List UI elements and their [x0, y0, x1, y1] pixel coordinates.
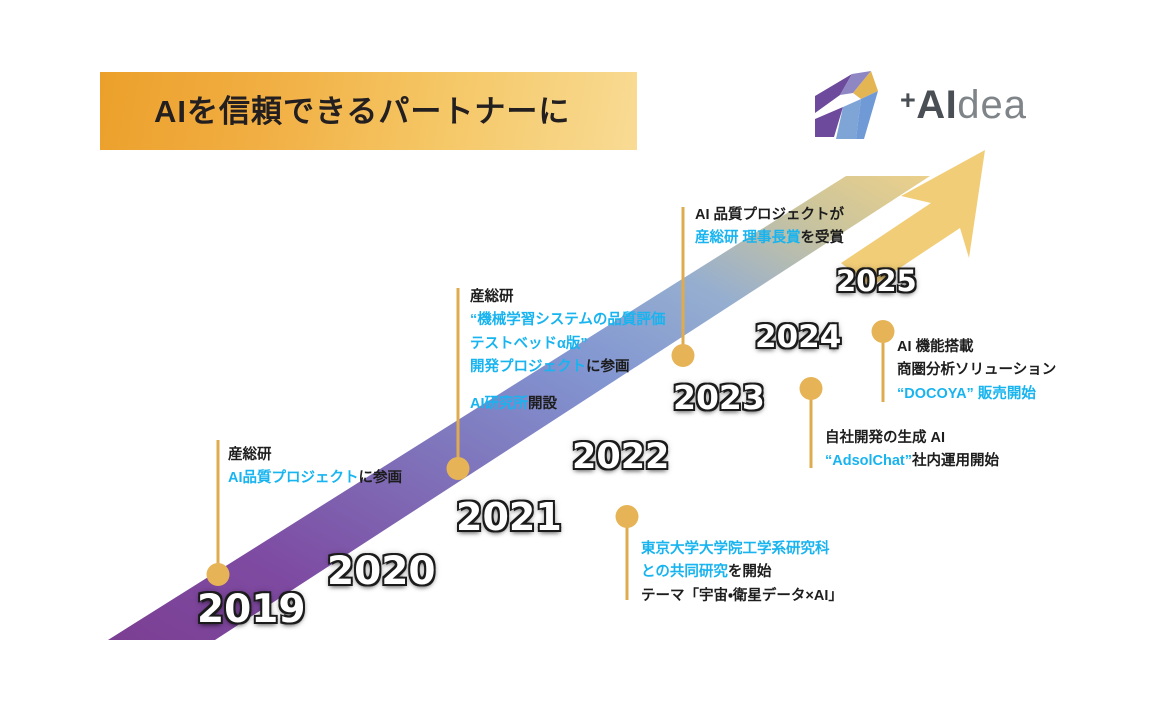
logo-ai: AI — [916, 83, 957, 127]
callout-text: に参画 — [586, 359, 630, 375]
year-label-2022: 2022 — [572, 440, 669, 475]
callout-line: 東京大学大学院工学系研究科 — [641, 538, 843, 561]
header-banner: AIを信頼できるパートナーに — [100, 72, 637, 150]
callout-2021-aist-testbed: 産総研“機械学習システムの品質評価テストベッドα版”開発プロジェクトに参画AI研… — [470, 286, 665, 416]
callout-2025-docoya: AI 機能搭載商圏分析ソリューション“DOCOYA” 販売開始 — [897, 336, 1056, 406]
callout-line: “機械学習システムの品質評価 — [470, 309, 665, 332]
year-label-2025: 2025 — [836, 267, 917, 296]
callout-line: テーマ「宇宙・衛星データ×AI」 — [641, 585, 843, 608]
callout-text: を開始 — [728, 564, 772, 580]
year-label-2023: 2023 — [673, 381, 765, 414]
callout-spacer — [470, 380, 665, 393]
connector-2024-adsolchat — [799, 377, 823, 468]
page-title: AIを信頼できるパートナーに — [100, 96, 570, 127]
callout-line: 自社開発の生成 AI — [825, 427, 999, 450]
callout-text: を受賞 — [801, 230, 845, 246]
callout-highlight-text: 開発プロジェクト — [470, 359, 586, 375]
callout-highlight-text: 産総研 理事長賞 — [695, 230, 801, 246]
callout-text: 産総研 — [228, 447, 272, 463]
callout-text: 開設 — [528, 396, 557, 412]
connector-2019-aist-ai-quality — [206, 440, 230, 586]
logo-dea: dea — [957, 83, 1027, 127]
connector-dot — [447, 457, 470, 480]
callout-highlight-text: AI品質プロジェクト — [228, 470, 359, 486]
connector-stem — [626, 516, 629, 600]
callout-text: テーマ「宇宙・衛星データ×AI」 — [641, 588, 843, 604]
connector-2022-utokyo-joint-research — [615, 505, 639, 600]
year-label-2020: 2020 — [327, 552, 436, 591]
callout-highlight-text: “DOCOYA” 販売開始 — [897, 386, 1036, 402]
callout-line: AI研究所開設 — [470, 393, 665, 416]
connector-dot — [672, 344, 695, 367]
connector-dot — [616, 505, 639, 528]
callout-line: 産総研 理事長賞を受賞 — [695, 227, 844, 250]
year-label-2021: 2021 — [456, 498, 562, 536]
callout-line: 産総研 — [228, 444, 402, 467]
callout-text: AI 機能搭載 — [897, 339, 974, 355]
callout-highlight-text: “AdsolChat” — [825, 453, 912, 469]
connector-2025-docoya — [871, 320, 895, 402]
connector-stem — [217, 440, 220, 575]
callout-line: との共同研究を開始 — [641, 561, 843, 584]
callout-line: “DOCOYA” 販売開始 — [897, 383, 1056, 406]
connector-dot — [872, 320, 895, 343]
year-label-2019: 2019 — [197, 590, 306, 629]
callout-line: 商圏分析ソリューション — [897, 359, 1056, 382]
callout-text: に参画 — [359, 470, 403, 486]
callout-text: 社内運用開始 — [912, 453, 999, 469]
callout-highlight-text: “機械学習システムの品質評価 — [470, 312, 665, 328]
callout-2022-utokyo-joint-research: 東京大学大学院工学系研究科との共同研究を開始テーマ「宇宙・衛星データ×AI」 — [641, 538, 843, 608]
aidea-arrow-logo-icon — [812, 69, 886, 141]
infographic-canvas: AIを信頼できるパートナーに +AIdea 201920202021202220… — [0, 0, 1170, 720]
connector-dot — [207, 563, 230, 586]
callout-line: AI品質プロジェクトに参画 — [228, 467, 402, 490]
connector-stem — [457, 288, 460, 469]
callout-text: 商圏分析ソリューション — [897, 362, 1056, 378]
callout-line: テストベッドα版” — [470, 333, 665, 356]
callout-line: AI 品質プロジェクトが — [695, 204, 844, 227]
logo-wordmark: +AIdea — [900, 85, 1027, 125]
callout-text: 自社開発の生成 AI — [825, 430, 945, 446]
callout-highlight-text: 東京大学大学院工学系研究科 — [641, 541, 830, 557]
connector-dot — [800, 377, 823, 400]
year-label-2024: 2024 — [755, 322, 841, 353]
callout-2023-aist-president-award: AI 品質プロジェクトが産総研 理事長賞を受賞 — [695, 204, 844, 251]
connector-2021-aist-testbed — [446, 288, 470, 480]
callout-text: 産総研 — [470, 289, 514, 305]
connector-2023-aist-president-award — [671, 207, 695, 367]
callout-line: “AdsolChat”社内運用開始 — [825, 450, 999, 473]
callout-line: 産総研 — [470, 286, 665, 309]
callout-highlight-text: AI研究所 — [470, 396, 528, 412]
callout-highlight-text: テストベッドα版” — [470, 336, 588, 352]
callout-line: AI 機能搭載 — [897, 336, 1056, 359]
callout-text: AI 品質プロジェクトが — [695, 207, 844, 223]
callout-2024-adsolchat: 自社開発の生成 AI“AdsolChat”社内運用開始 — [825, 427, 999, 474]
callout-2019-aist-ai-quality: 産総研AI品質プロジェクトに参画 — [228, 444, 402, 491]
callout-highlight-text: との共同研究 — [641, 564, 728, 580]
brand-logo: +AIdea — [812, 66, 1084, 144]
callout-line: 開発プロジェクトに参画 — [470, 356, 665, 379]
connector-stem — [682, 207, 685, 356]
logo-plus: + — [900, 85, 916, 115]
connector-stem — [810, 388, 813, 468]
